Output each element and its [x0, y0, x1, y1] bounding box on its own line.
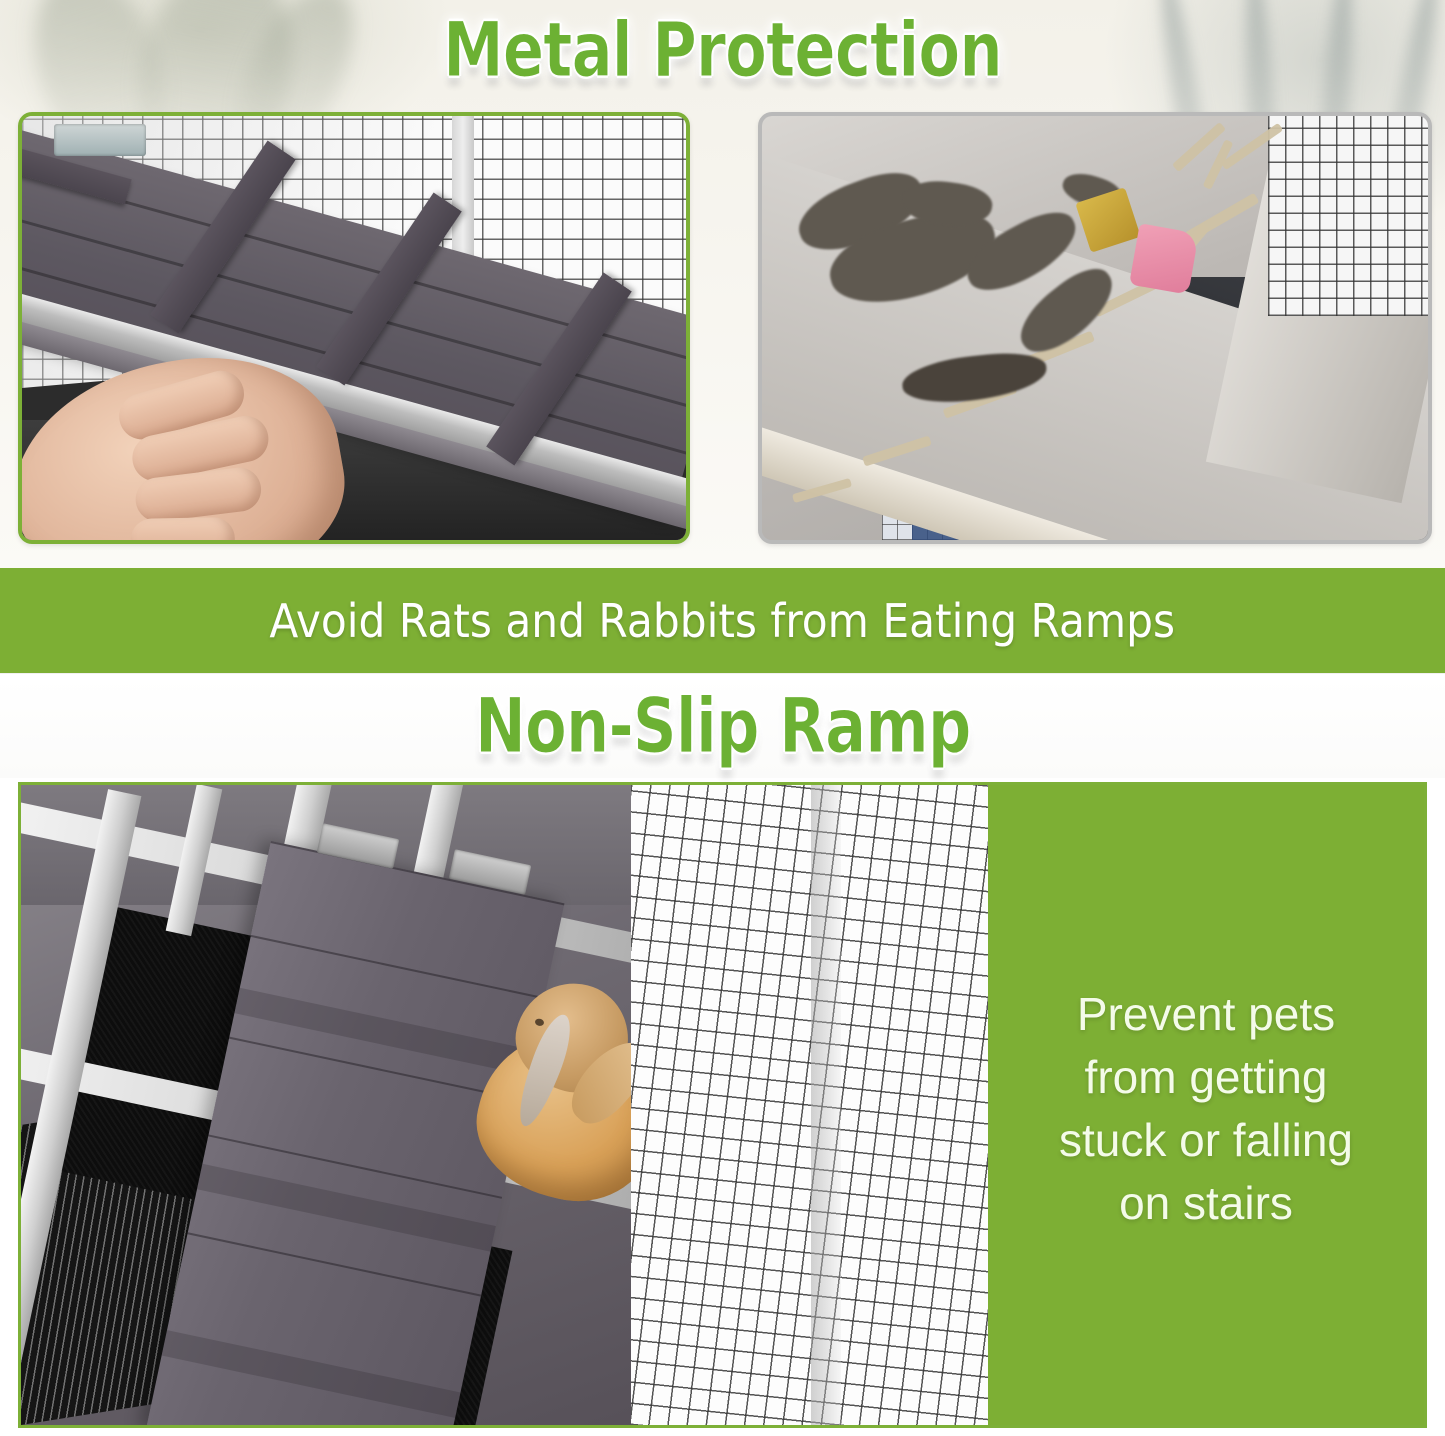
hutch-wire-mesh-panel	[631, 785, 988, 1425]
photo-rabbit-on-ramp	[21, 785, 988, 1425]
infographic-page: Metal Protection	[0, 0, 1445, 1436]
photo-chewed-ramp	[758, 112, 1432, 544]
upper-wire-mesh	[1268, 116, 1428, 316]
callout-line-1: Prevent pets	[988, 983, 1424, 1046]
non-slip-ramp-section: Prevent pets from getting stuck or falli…	[18, 782, 1427, 1428]
pink-debris	[1129, 223, 1199, 294]
tagline-text: Avoid Rats and Rabbits from Eating Ramps	[270, 598, 1176, 644]
non-slip-title-bar: Non-Slip Ramp	[0, 678, 1445, 778]
ramp-hinge	[54, 124, 146, 156]
tagline-banner: Avoid Rats and Rabbits from Eating Ramps	[0, 568, 1445, 673]
callout-text: Prevent pets from getting stuck or falli…	[988, 983, 1424, 1235]
callout-line-2: from getting	[988, 1046, 1424, 1109]
callout-line-4: on stairs	[988, 1172, 1424, 1235]
photo-hand-holding-ramp	[18, 112, 690, 544]
callout-panel: Prevent pets from getting stuck or falli…	[988, 785, 1424, 1425]
callout-line-3: stuck or falling	[988, 1109, 1424, 1172]
non-slip-title: Non-Slip Ramp	[475, 676, 971, 776]
metal-protection-section: Metal Protection	[0, 0, 1445, 575]
mesh-support-post	[811, 785, 841, 1425]
page-title: Metal Protection	[145, 4, 1301, 96]
